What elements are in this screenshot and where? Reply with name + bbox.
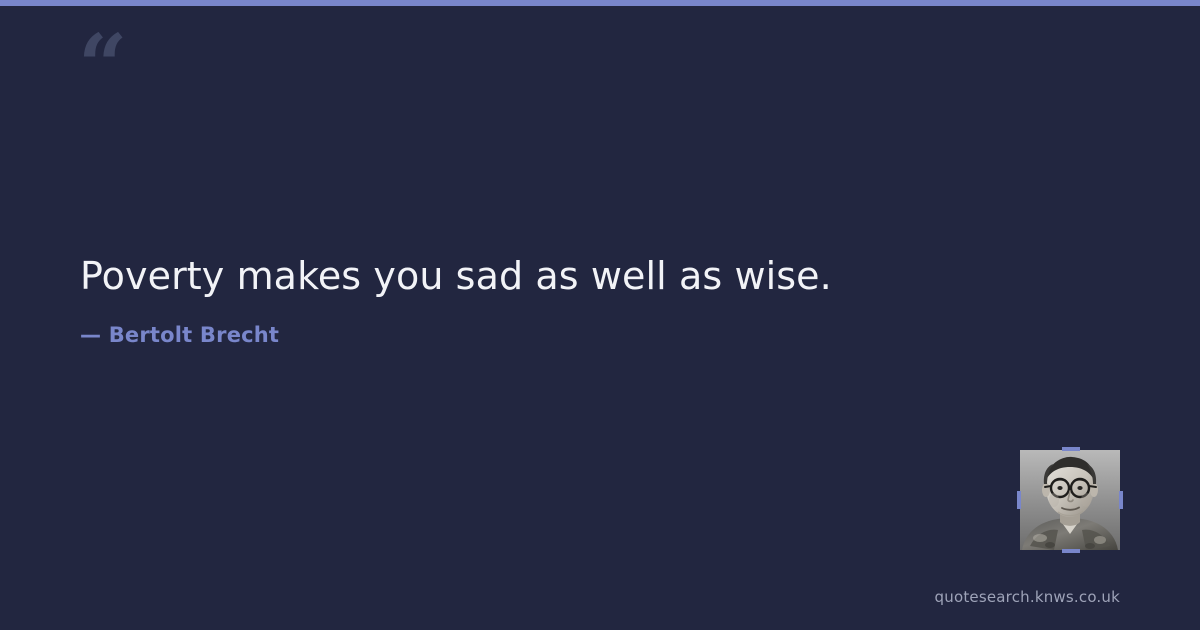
quotation-mark-icon: “ [78,24,125,110]
portrait-tick-right [1119,491,1123,509]
portrait-tick-bottom [1062,549,1080,553]
quote-body: Poverty makes you sad as well as wise. —… [80,252,1080,347]
quote-text: Poverty makes you sad as well as wise. [80,252,1080,301]
author-portrait [1020,450,1120,550]
site-url: quotesearch.knws.co.uk [935,588,1120,606]
quote-attribution: — Bertolt Brecht [80,323,1080,347]
author-portrait-image [1020,450,1120,550]
portrait-tick-top [1062,447,1080,451]
quote-card: “ Poverty makes you sad as well as wise.… [0,0,1200,630]
top-accent-bar [0,0,1200,6]
portrait-tick-left [1017,491,1021,509]
